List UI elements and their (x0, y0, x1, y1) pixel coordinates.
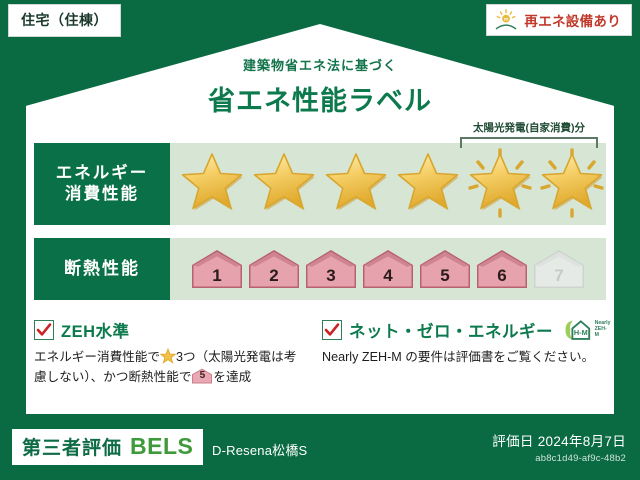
insulation-level-scale: 1 2 3 4 5 6 (190, 238, 600, 300)
insulation-scale-area: 1 2 3 4 5 6 (170, 238, 606, 300)
energy-label-line1: エネルギー (56, 163, 149, 184)
insulation-level-active: 4 (361, 247, 415, 291)
bracket-left-leg (460, 137, 462, 148)
bels-jp-label: 第三者評価 (22, 433, 122, 460)
title-subtitle: 建築物省エネ法に基づく (0, 55, 640, 74)
insulation-level-inactive: 7 (532, 247, 586, 291)
evaluation-info: 評価日 2024年8月7日 ab8c1d49-af9c-48b2 (492, 430, 626, 464)
star-filled (250, 148, 318, 220)
building-type-tag: 住宅（住棟） (8, 4, 121, 37)
page-title: 省エネ性能ラベル (0, 79, 640, 118)
building-name: D-Resena松橋S (212, 440, 307, 459)
star-solar (466, 148, 534, 220)
insulation-level-active: 1 (190, 247, 244, 291)
star-filled (178, 148, 246, 220)
svg-text:m: m (504, 17, 508, 22)
insulation-level-number: 6 (475, 266, 529, 286)
insulation-level-number: 5 (418, 266, 472, 286)
sun-icon: m (493, 9, 519, 31)
insulation-level-active: 2 (247, 247, 301, 291)
insulation-level-active: 3 (304, 247, 358, 291)
insulation-performance-row: 断熱性能 1 2 3 4 (34, 238, 606, 300)
inline-star-icon (160, 348, 176, 364)
star-filled (322, 148, 390, 220)
insulation-level-active: 5 (418, 247, 472, 291)
bracket-top-line (460, 137, 598, 139)
insulation-level-number: 4 (361, 266, 415, 286)
insulation-level-number: 7 (532, 266, 586, 286)
inline-house-number: 5 (191, 368, 213, 384)
net-zero-energy-block: ネット・ゼロ・エネルギー H-M Nearly ZEH-M Nearly ZEH… (322, 318, 606, 400)
inline-house-icon: 5 (191, 368, 213, 384)
net-zero-description: Nearly ZEH-M の要件は評価書をご覧ください。 (322, 348, 606, 368)
net-zero-title: ネット・ゼロ・エネルギー (349, 318, 553, 342)
zeh-desc-part1: エネルギー消費性能で (34, 350, 160, 364)
zeh-standard-checkbox[interactable] (34, 320, 54, 340)
criteria-blocks: ZEH水準 エネルギー消費性能で3つ（太陽光発電は考慮しない）、かつ断熱性能で5… (34, 318, 606, 400)
energy-label-line2: 消費性能 (65, 184, 139, 205)
solar-bracket-label: 太陽光発電(自家消費)分 (460, 120, 598, 135)
bels-logo-box: 第三者評価 BELS (12, 429, 203, 465)
insulation-level-number: 1 (190, 266, 244, 286)
title-block: 建築物省エネ法に基づく 省エネ性能ラベル (0, 55, 640, 118)
evaluation-date: 評価日 2024年8月7日 (492, 430, 626, 450)
evaluation-id: ab8c1d49-af9c-48b2 (492, 453, 626, 464)
insulation-label-box: 断熱性能 (34, 238, 170, 300)
renewable-equipment-badge: m 再エネ設備あり (486, 4, 632, 36)
star-filled (394, 148, 462, 220)
solar-bracket: 太陽光発電(自家消費)分 (460, 126, 598, 156)
zeh-standard-description: エネルギー消費性能で3つ（太陽光発電は考慮しない）、かつ断熱性能で5を達成 (34, 348, 304, 387)
bracket-right-leg (596, 137, 598, 148)
zeh-standard-title: ZEH水準 (61, 318, 130, 342)
zeh-standard-block: ZEH水準 エネルギー消費性能で3つ（太陽光発電は考慮しない）、かつ断熱性能で5… (34, 318, 304, 400)
energy-performance-row: エネルギー 消費性能 (34, 143, 606, 225)
zeh-desc-part3: を達成 (213, 370, 251, 384)
footer-bar: 第三者評価 BELS D-Resena松橋S 評価日 2024年8月7日 ab8… (0, 418, 640, 480)
zeh-m-logo-sub: Nearly ZEH-M (595, 321, 611, 339)
renewable-badge-label: 再エネ設備あり (524, 10, 621, 30)
net-zero-header: ネット・ゼロ・エネルギー H-M Nearly ZEH-M (322, 318, 606, 342)
energy-performance-label-box: エネルギー 消費性能 (34, 143, 170, 225)
insulation-level-number: 3 (304, 266, 358, 286)
insulation-label: 断熱性能 (64, 258, 140, 279)
insulation-level-number: 2 (247, 266, 301, 286)
zeh-standard-header: ZEH水準 (34, 318, 304, 342)
net-zero-checkbox[interactable] (322, 320, 342, 340)
bels-en-label: BELS (130, 433, 193, 460)
insulation-level-active: 6 (475, 247, 529, 291)
zeh-m-logo: H-M Nearly ZEH-M (563, 318, 611, 342)
energy-performance-label: 住宅（住棟） m 再エネ設備あり 建築物省エネ法に基づく 省エネ性能ラベル (0, 0, 640, 480)
star-solar (538, 148, 606, 220)
zeh-m-sub-line2: ZEH-M (595, 326, 607, 338)
zeh-m-logo-text: H-M (574, 328, 588, 337)
energy-stars-area: 太陽光発電(自家消費)分 (170, 143, 606, 225)
